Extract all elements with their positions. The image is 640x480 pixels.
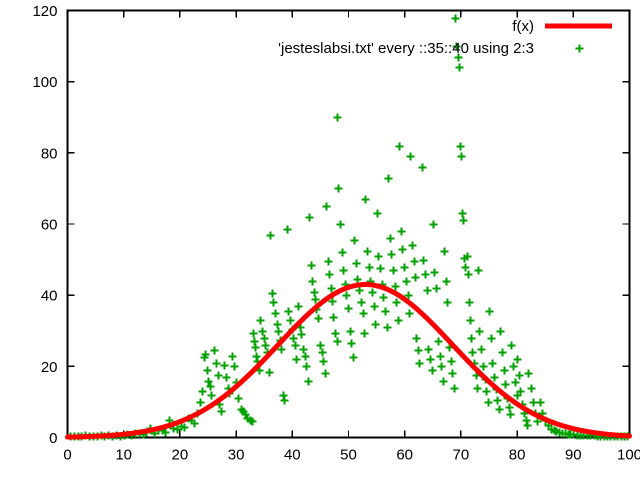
gnuplot-figure: 020406080100120 0102030405060708090100 f…	[0, 0, 640, 480]
y-tick-label: 60	[41, 217, 58, 234]
legend-label: f(x)	[512, 18, 534, 35]
figure-background	[0, 0, 640, 480]
y-tick-label: 0	[49, 430, 57, 447]
x-tick-label: 60	[396, 447, 413, 464]
x-tick-label: 100	[617, 447, 640, 464]
legend-label: 'jesteslabsi.txt' every ::35::40 using 2…	[278, 40, 534, 57]
x-tick-label: 70	[453, 447, 470, 464]
x-tick-label: 10	[115, 447, 132, 464]
x-tick-label: 30	[228, 447, 245, 464]
y-tick-label: 120	[32, 3, 57, 20]
y-tick-label: 100	[32, 74, 57, 91]
x-tick-label: 20	[172, 447, 189, 464]
x-tick-label: 50	[340, 447, 357, 464]
plot-canvas: 020406080100120 0102030405060708090100 f…	[0, 0, 640, 480]
y-tick-label: 20	[41, 359, 58, 376]
x-tick-label: 80	[509, 447, 526, 464]
y-tick-label: 40	[41, 288, 58, 305]
y-tick-label: 80	[41, 145, 58, 162]
x-tick-label: 90	[565, 447, 582, 464]
x-tick-label: 40	[284, 447, 301, 464]
x-tick-label: 0	[63, 447, 71, 464]
